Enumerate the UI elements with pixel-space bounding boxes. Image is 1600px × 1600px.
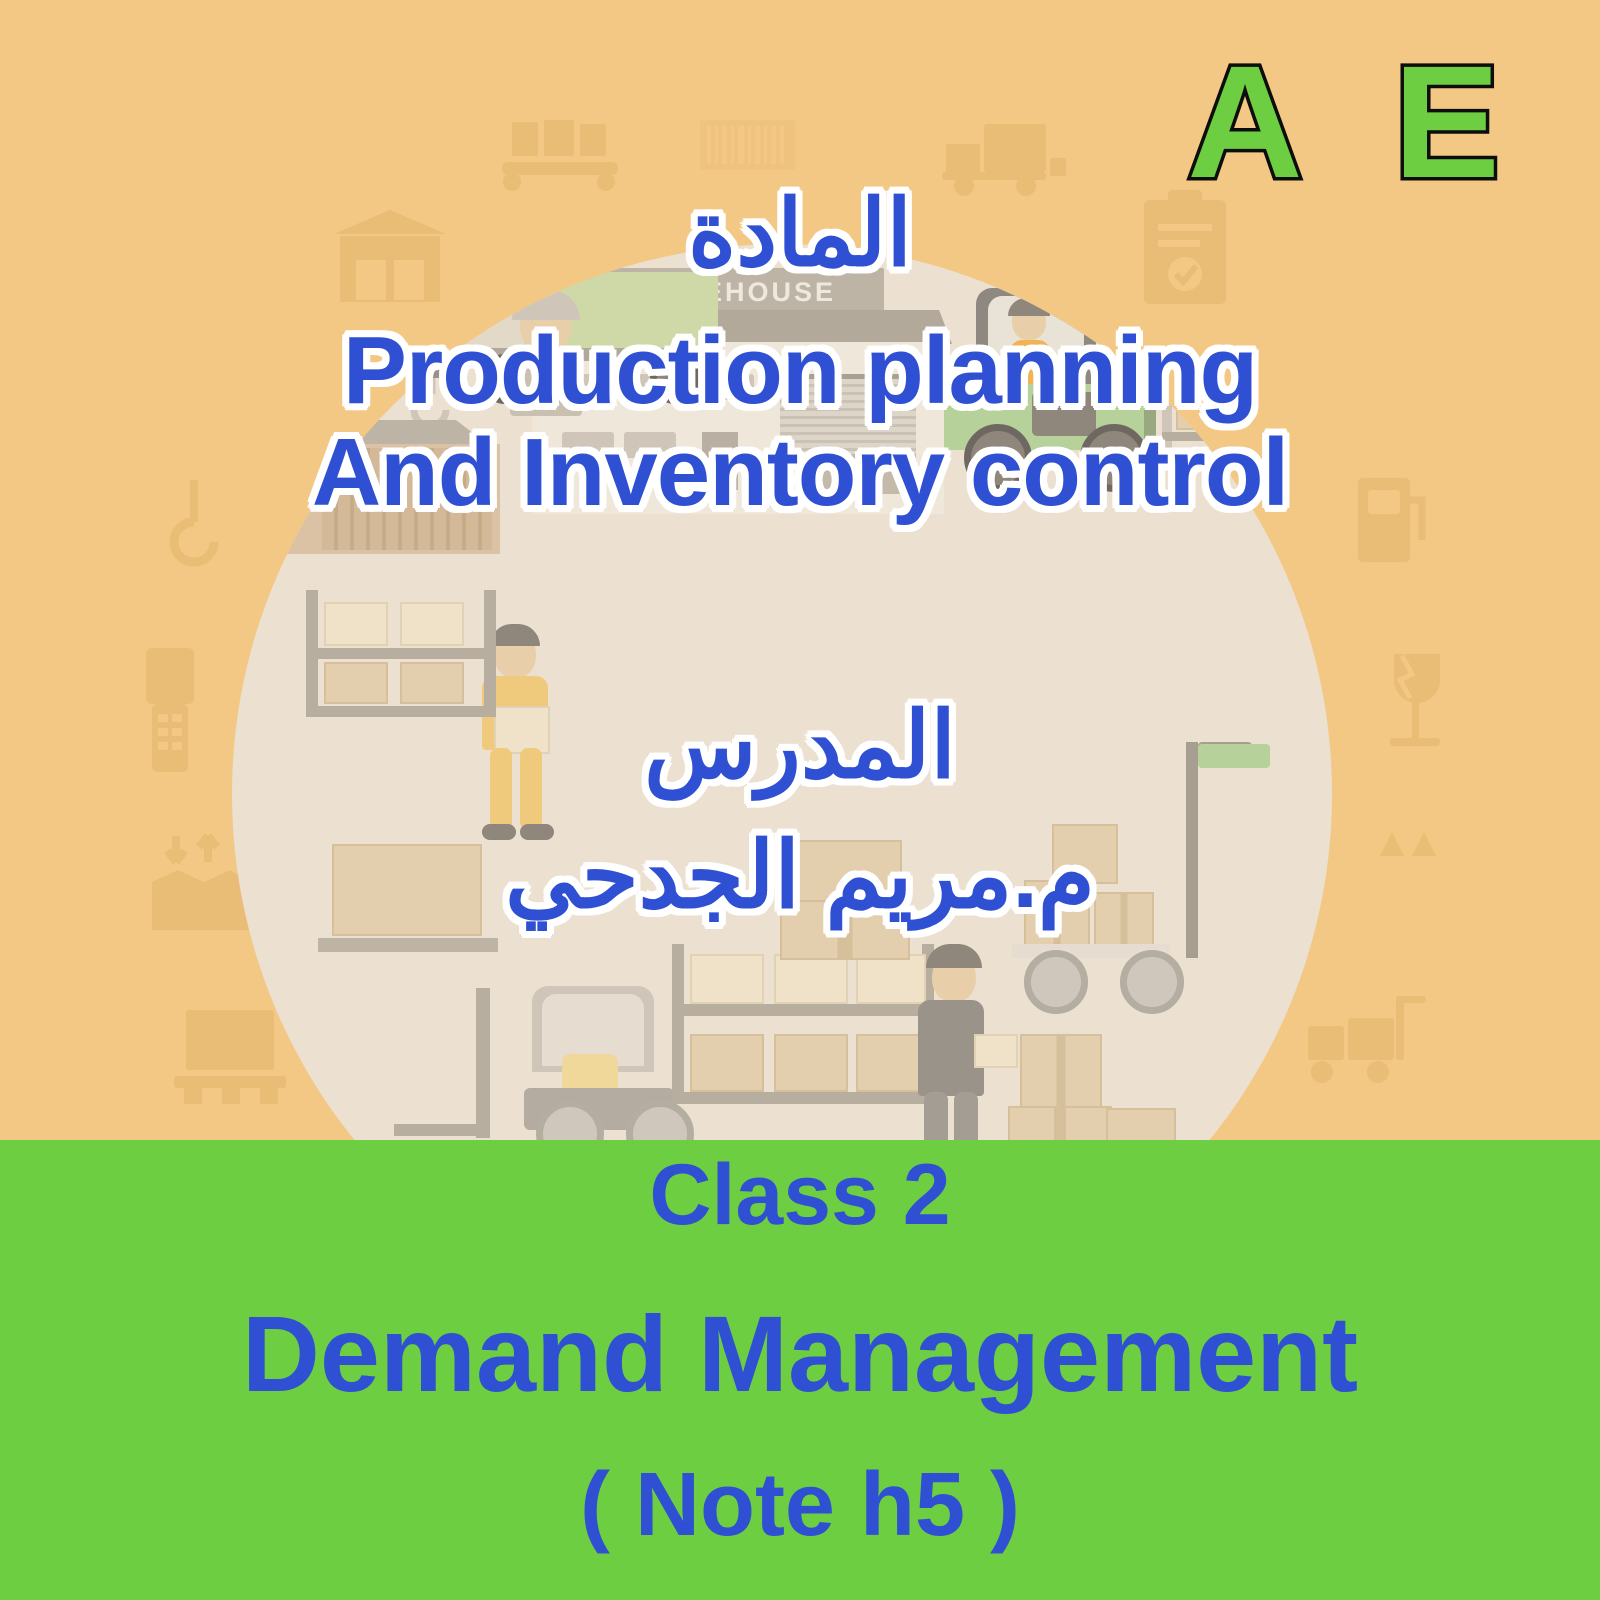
instructor-label: المدرس [0, 700, 1600, 792]
conveyor-belt-icon [500, 120, 620, 195]
pallet-truck-icon [1300, 990, 1432, 1086]
barcode-icon [700, 120, 795, 170]
course-title-card: WAREHOUSE [0, 0, 1600, 1600]
class-number: Class 2 [0, 1152, 1600, 1238]
course-title: Production planning And Inventory contro… [0, 320, 1600, 524]
shelf-crate [856, 954, 926, 1004]
shelf-crate [690, 954, 764, 1004]
shelf-beam [306, 648, 496, 659]
shelf-post [672, 944, 684, 1104]
shelf-box [400, 602, 464, 646]
handtruck-wheel [1120, 950, 1184, 1014]
forklift-fork [394, 1124, 490, 1136]
parked-forklift-mast [476, 988, 490, 1138]
inventory-clerk-hair [926, 944, 982, 968]
clipboard [974, 1034, 1018, 1068]
shelf-crate [774, 954, 848, 1004]
shelf-crate [690, 1034, 764, 1092]
worker-hair [490, 624, 540, 646]
shelf-box [324, 602, 388, 646]
course-title-line-1: Production planning [0, 320, 1600, 422]
delivery-truck-icon [940, 118, 1068, 198]
lesson-note: ( Note h5 ) [0, 1460, 1600, 1550]
course-title-line-2: And Inventory control [0, 422, 1600, 524]
ae-logo: A E [1187, 42, 1526, 202]
instructor-name: م.مريم الجدحي [0, 830, 1600, 922]
shelf-crate [856, 1034, 926, 1092]
pallet-board [318, 938, 498, 952]
shelf-box [400, 662, 464, 704]
handtruck-wheel [1024, 950, 1088, 1014]
shelf-box [324, 662, 388, 704]
lesson-title: Demand Management [0, 1300, 1600, 1408]
shelf-crate [774, 1034, 848, 1092]
shelf-beam [672, 1004, 934, 1016]
subject-label: المادة [0, 188, 1600, 280]
pallet-stack-icon [170, 1000, 290, 1110]
stacked-box [1020, 1034, 1102, 1108]
shelf-beam [672, 1092, 934, 1104]
